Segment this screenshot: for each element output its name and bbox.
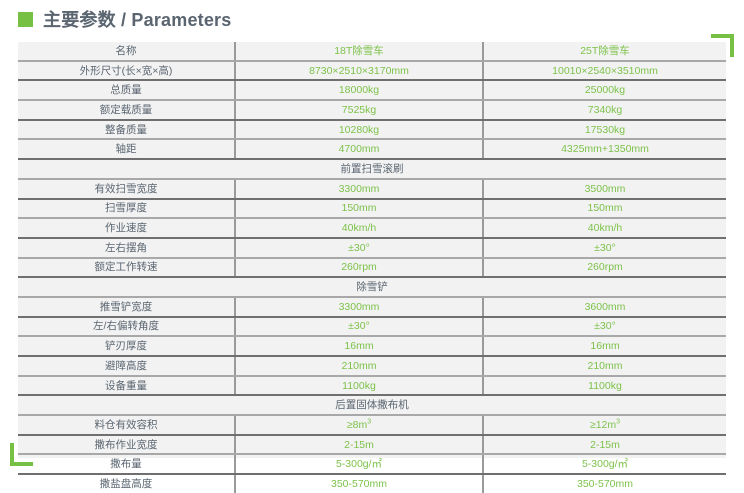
table-cell-label: 整备质量 <box>18 120 235 140</box>
title-marker-icon <box>18 12 33 27</box>
table-cell-label: 撒布作业宽度 <box>18 435 235 455</box>
table-cell-value-18t: 16mm <box>235 336 483 356</box>
table-row: 扫雪厚度150mm150mm <box>18 199 726 219</box>
table-row: 料仓有效容积≥8m3≥12m3 <box>18 415 726 435</box>
table-cell-label: 撒布量 <box>18 454 235 474</box>
table-row: 轴距4700mm4325mm+1350mm <box>18 139 726 159</box>
table-cell-value-18t: 1100kg <box>235 376 483 396</box>
table-cell-label: 左/右偏转角度 <box>18 317 235 337</box>
table-cell-label: 推雪铲宽度 <box>18 297 235 317</box>
table-row: 推雪铲宽度3300mm3600mm <box>18 297 726 317</box>
table-cell-value-25t: 25000kg <box>483 80 726 100</box>
table-cell-value-25t: 17530kg <box>483 120 726 140</box>
table-cell-label: 总质量 <box>18 80 235 100</box>
table-group-row: 除雪铲 <box>18 277 726 297</box>
table-cell-value-18t: ≥8m3 <box>235 415 483 435</box>
table-cell-value-25t: 260rpm <box>483 258 726 278</box>
table-cell-label: 铲刃厚度 <box>18 336 235 356</box>
table-cell-value-18t: 4700mm <box>235 139 483 159</box>
table-cell-value-18t: 260rpm <box>235 258 483 278</box>
table-cell-value-18t: 7525kg <box>235 100 483 120</box>
table-cell-value-25t: 2-15m <box>483 435 726 455</box>
table-cell-label: 额定工作转速 <box>18 258 235 278</box>
table-cell-label: 作业速度 <box>18 218 235 238</box>
table-cell-value-25t: 3500mm <box>483 179 726 199</box>
table-cell-label: 撒盐盘高度 <box>18 474 235 493</box>
table-cell-value-25t: 16mm <box>483 336 726 356</box>
table-cell-value-18t: 3300mm <box>235 297 483 317</box>
table-row: 整备质量10280kg17530kg <box>18 120 726 140</box>
corner-bracket-top-right-icon <box>711 34 734 57</box>
table-cell-label: 避障高度 <box>18 356 235 376</box>
table-cell-value-18t: 40km/h <box>235 218 483 238</box>
table-cell-value-18t: 3300mm <box>235 179 483 199</box>
table-cell-label: 设备重量 <box>18 376 235 396</box>
table-row: 撒布作业宽度2-15m2-15m <box>18 435 726 455</box>
table-cell-label: 名称 <box>18 42 235 61</box>
table-cell-value-18t: 210mm <box>235 356 483 376</box>
table-cell-value-25t: 210mm <box>483 356 726 376</box>
table-row: 有效扫雪宽度3300mm3500mm <box>18 179 726 199</box>
table-row: 设备重量1100kg1100kg <box>18 376 726 396</box>
table-cell-value-25t: 40km/h <box>483 218 726 238</box>
table-cell-value-18t: 18T除雪车 <box>235 42 483 61</box>
table-group-label: 除雪铲 <box>18 277 726 297</box>
table-cell-value-25t: 25T除雪车 <box>483 42 726 61</box>
table-cell-value-18t: 5-300g/㎡ <box>235 454 483 474</box>
table-row: 额定载质量7525kg7340kg <box>18 100 726 120</box>
table-cell-value-25t: 1100kg <box>483 376 726 396</box>
parameters-panel: 名称18T除雪车25T除雪车外形尺寸(长×宽×高)8730×2510×3170m… <box>18 42 726 458</box>
table-row: 外形尺寸(长×宽×高)8730×2510×3170mm10010×2540×35… <box>18 61 726 81</box>
table-group-row: 后置固体撒布机 <box>18 395 726 415</box>
table-cell-value-25t: ±30° <box>483 238 726 258</box>
table-cell-value-25t: 150mm <box>483 199 726 219</box>
table-cell-value-18t: 2-15m <box>235 435 483 455</box>
parameters-table: 名称18T除雪车25T除雪车外形尺寸(长×宽×高)8730×2510×3170m… <box>18 42 726 493</box>
table-cell-label: 外形尺寸(长×宽×高) <box>18 61 235 81</box>
table-row: 撒盐盘高度350-570mm350-570mm <box>18 474 726 493</box>
table-cell-value-25t: 10010×2540×3510mm <box>483 61 726 81</box>
table-header-row: 名称18T除雪车25T除雪车 <box>18 42 726 61</box>
table-cell-value-18t: 18000kg <box>235 80 483 100</box>
table-cell-value-18t: ±30° <box>235 317 483 337</box>
table-cell-label: 左右摆角 <box>18 238 235 258</box>
table-cell-value-18t: 350-570mm <box>235 474 483 493</box>
table-cell-value-25t: 350-570mm <box>483 474 726 493</box>
table-cell-value-25t: 7340kg <box>483 100 726 120</box>
table-cell-label: 轴距 <box>18 139 235 159</box>
table-cell-value-25t: ≥12m3 <box>483 415 726 435</box>
table-group-row: 前置扫雪滚刷 <box>18 159 726 179</box>
table-row: 铲刃厚度16mm16mm <box>18 336 726 356</box>
table-row: 左/右偏转角度±30°±30° <box>18 317 726 337</box>
table-cell-value-25t: 3600mm <box>483 297 726 317</box>
table-row: 左右摆角±30°±30° <box>18 238 726 258</box>
corner-bracket-bottom-left-icon <box>10 443 33 466</box>
page-title-text: 主要参数 / Parameters <box>43 6 231 32</box>
table-cell-label: 有效扫雪宽度 <box>18 179 235 199</box>
table-row: 避障高度210mm210mm <box>18 356 726 376</box>
table-group-label: 后置固体撒布机 <box>18 395 726 415</box>
table-cell-value-18t: 150mm <box>235 199 483 219</box>
table-row: 撒布量5-300g/㎡5-300g/㎡ <box>18 454 726 474</box>
page-title: 主要参数 / Parameters <box>18 6 231 32</box>
table-cell-label: 额定载质量 <box>18 100 235 120</box>
table-cell-label: 料仓有效容积 <box>18 415 235 435</box>
table-row: 额定工作转速260rpm260rpm <box>18 258 726 278</box>
table-cell-value-25t: 4325mm+1350mm <box>483 139 726 159</box>
table-row: 总质量18000kg25000kg <box>18 80 726 100</box>
table-cell-value-18t: 8730×2510×3170mm <box>235 61 483 81</box>
table-cell-label: 扫雪厚度 <box>18 199 235 219</box>
table-cell-value-18t: ±30° <box>235 238 483 258</box>
table-cell-value-25t: ±30° <box>483 317 726 337</box>
table-group-label: 前置扫雪滚刷 <box>18 159 726 179</box>
table-cell-value-18t: 10280kg <box>235 120 483 140</box>
table-row: 作业速度40km/h40km/h <box>18 218 726 238</box>
table-cell-value-25t: 5-300g/㎡ <box>483 454 726 474</box>
